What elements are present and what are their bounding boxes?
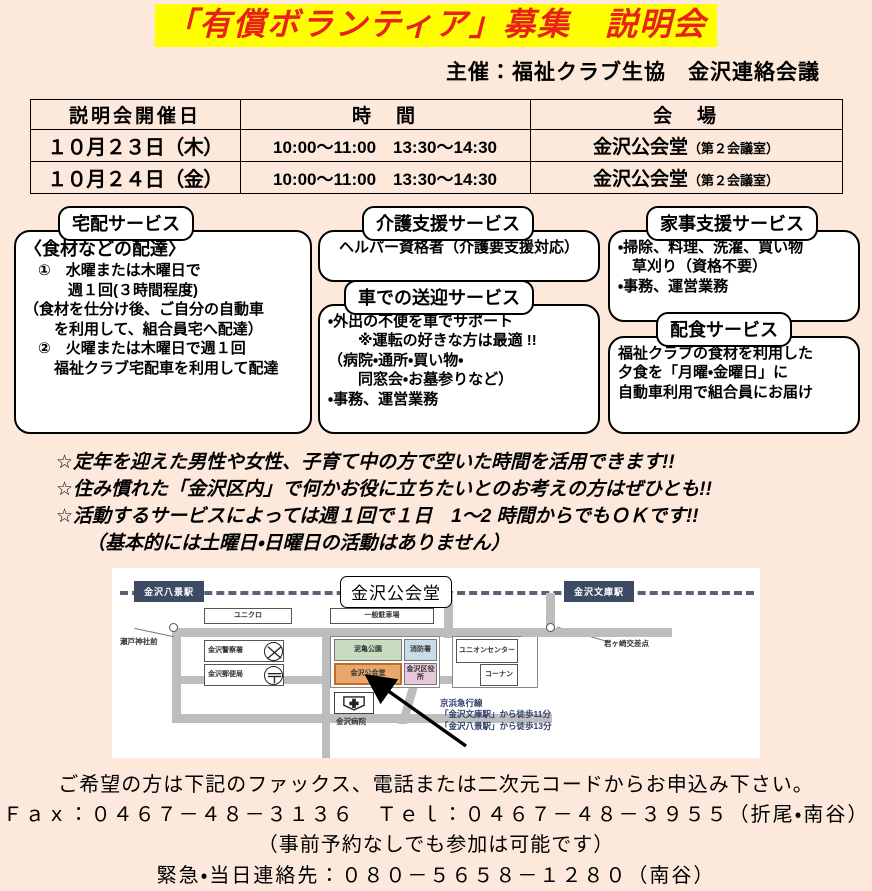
map-pointer-arrow-icon [348, 668, 478, 756]
contact-emergency: 緊急・当日連絡先：０８０－５６５８－１２８０（南谷） [0, 861, 872, 891]
cell-place-2: 金沢公会堂（第２会議室） [530, 161, 842, 193]
map-callout-hall: 金沢公会堂 [340, 576, 452, 608]
service-title-kaigo: 介護支援サービス [362, 206, 534, 241]
service-box-kaji: ・掃除、料理、洗濯、買い物草刈り（資格不要）・事務、運営業務 [608, 230, 860, 322]
highlight-line-2: ☆活動するサービスによっては週１回で１日 1～2 時間からでもＯＫです!! [56, 504, 872, 531]
title-block: 「有償ボランティア」募集 説明会 [0, 0, 872, 47]
service-line-takuhai-4: を利用して、組合員宅へ配達） [24, 320, 302, 340]
map-poi-setojinja: 瀬戸神社前 [120, 636, 158, 647]
cell-place-1: 金沢公会堂（第２会議室） [530, 129, 842, 161]
table-header-row: 説明会開催日 時 間 会 場 [30, 99, 842, 129]
schedule-table: 説明会開催日 時 間 会 場 １０月２３日（木） 10:00～11:00 13:… [30, 99, 843, 194]
service-title-kuruma: 車での送迎サービス [344, 280, 534, 315]
place-note-2: （第２会議室） [688, 173, 779, 188]
service-line-takuhai-1: ① 水曜または木曜日で [24, 261, 302, 281]
contact-block: ご希望の方は下記のファックス、電話または二次元コードからお申込み下さい。 Ｆａｘ… [0, 770, 872, 891]
header-date: 説明会開催日 [30, 99, 240, 129]
organizer-subtitle: 主催：福祉クラブ生協 金沢連絡会議 [0, 56, 872, 86]
service-body-takuhai: 〈食材などの配達〉① 水曜または木曜日で週１回(３時間程度)（食材を仕分け後、ご… [16, 232, 310, 382]
page-title: 「有償ボランティア」募集 説明会 [155, 4, 717, 47]
map-station-hakkei: 金沢八景駅 [134, 581, 204, 602]
service-title-takuhai: 宅配サービス [58, 206, 194, 241]
header-time: 時 間 [240, 99, 530, 129]
highlight-list: ☆定年を迎えた男性や女性、子育て中の方で空いた時間を活用できます!!☆住み慣れた… [0, 450, 872, 558]
service-line-takuhai-6: 福祉クラブ宅配車を利用して配達 [24, 359, 302, 379]
highlight-line-3: （基本的には土曜日・日曜日の活動はありません） [56, 531, 872, 558]
map-building-parking: 一般駐車場 [330, 608, 434, 624]
service-line-takuhai-3: （食材を仕分け後、ご自分の自動車 [24, 300, 302, 320]
access-map: 金沢八景駅 金沢文庫駅 金沢公会堂 ユニクロ 一般駐車場 金沢警察署 金沢郵便局… [112, 568, 760, 758]
map-station-bunko: 金沢文庫駅 [564, 581, 634, 602]
highlight-line-0: ☆定年を迎えた男性や女性、子育て中の方で空いた時間を活用できます!! [56, 450, 872, 477]
map-building-kohnan: コーナン [480, 664, 518, 686]
service-title-haishoku: 配食サービス [656, 312, 792, 347]
postoffice-symbol-icon [264, 666, 283, 685]
service-title-kaji: 家事支援サービス [646, 206, 818, 241]
map-building-uniqlo: ユニクロ [204, 608, 292, 624]
header-place: 会 場 [530, 99, 842, 129]
map-road-vert-1 [322, 628, 330, 758]
service-line-kuruma-2: （病院・通所・買い物・ [328, 351, 590, 371]
map-building-fire: 消防署 [404, 639, 437, 661]
cell-time-2: 10:00～11:00 13:30～14:30 [240, 161, 530, 193]
service-line-haishoku-2: 自動車利用で組合員にお届け [618, 383, 850, 403]
service-line-haishoku-1: 夕食を「月曜・金曜日」に [618, 363, 850, 383]
service-box-takuhai: 〈食材などの配達〉① 水曜または木曜日で週１回(３時間程度)（食材を仕分け後、ご… [14, 230, 312, 434]
map-building-park: 泥亀公園 [334, 639, 402, 661]
map-canvas: 金沢八景駅 金沢文庫駅 金沢公会堂 ユニクロ 一般駐車場 金沢警察署 金沢郵便局… [112, 568, 760, 758]
service-body-haishoku: 福祉クラブの食材を利用した夕食を「月曜・金曜日」に自動車利用で組合員にお届け [610, 338, 858, 407]
service-line-kuruma-1: ※運転の好きな方は最適 !! [328, 331, 590, 351]
table-row: １０月２４日（金） 10:00～11:00 13:30～14:30 金沢公会堂（… [30, 161, 842, 193]
cell-date-1: １０月２３日（木） [30, 129, 240, 161]
service-body-kuruma: ・外出の不便を車でサポート※運転の好きな方は最適 !!（病院・通所・買い物・同窓… [320, 306, 598, 414]
cell-date-2: １０月２４日（金） [30, 161, 240, 193]
service-box-haishoku: 福祉クラブの食材を利用した夕食を「月曜・金曜日」に自動車利用で組合員にお届け [608, 336, 860, 434]
cell-time-1: 10:00～11:00 13:30～14:30 [240, 129, 530, 161]
service-line-kaji-1: 草刈り（資格不要） [618, 257, 850, 277]
highlight-line-1: ☆住み慣れた「金沢区内」で何かお役に立ちたいとのお考えの方はぜひとも!! [56, 477, 872, 504]
service-line-kuruma-3: 同窓会・お墓参りなど） [328, 370, 590, 390]
map-intersection-kimigasaki [546, 623, 555, 632]
place-name-1: 金沢公会堂 [593, 137, 688, 158]
contact-note: （事前予約なしでも参加は可能です） [0, 830, 872, 860]
map-road-east [522, 628, 622, 637]
contact-intro: ご希望の方は下記のファックス、電話または二次元コードからお申込み下さい。 [0, 770, 872, 800]
map-poi-kimigasaki: 君ヶ崎交差点 [604, 638, 649, 649]
map-building-union: ユニオンセンター [456, 639, 518, 663]
service-line-kuruma-4: ・事務、運営業務 [328, 390, 590, 410]
service-line-takuhai-5: ② 火曜または木曜日で週１回 [24, 339, 302, 359]
services-region: 〈食材などの配達〉① 水曜または木曜日で週１回(３時間程度)（食材を仕分け後、ご… [0, 206, 872, 446]
service-body-kaji: ・掃除、料理、洗濯、買い物草刈り（資格不要）・事務、運営業務 [610, 232, 858, 301]
map-intersection-seto [169, 623, 178, 632]
contact-fax-tel: Ｆａｘ：０４６７－４８－３１３６ Ｔｅｌ：０４６７－４８－３９５５（折尾・南谷） [0, 800, 872, 830]
service-line-takuhai-0: 〈食材などの配達〉 [24, 238, 302, 261]
place-name-2: 金沢公会堂 [593, 169, 688, 190]
service-line-takuhai-2: 週１回(３時間程度) [24, 281, 302, 301]
service-line-kaji-2: ・事務、運営業務 [618, 277, 850, 297]
police-symbol-icon [264, 642, 283, 661]
place-note-1: （第２会議室） [688, 141, 779, 156]
service-box-kuruma: ・外出の不便を車でサポート※運転の好きな方は最適 !!（病院・通所・買い物・同窓… [318, 304, 600, 434]
table-row: １０月２３日（木） 10:00～11:00 13:30～14:30 金沢公会堂（… [30, 129, 842, 161]
